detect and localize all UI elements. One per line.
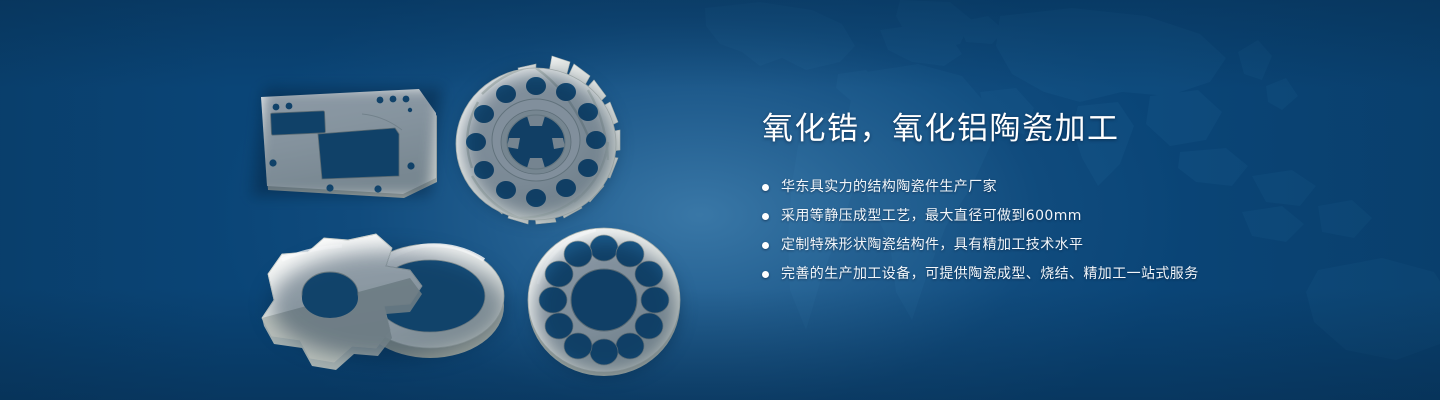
- feature-list-item: 采用等静压成型工艺，最大直径可做到600mm: [762, 205, 1382, 227]
- feature-text: 完善的生产加工设备，可提供陶瓷成型、烧结、精加工一站式服务: [781, 263, 1199, 285]
- feature-list: 华东具实力的结构陶瓷件生产厂家 采用等静压成型工艺，最大直径可做到600mm 定…: [762, 176, 1382, 285]
- feature-text: 华东具实力的结构陶瓷件生产厂家: [781, 176, 997, 198]
- feature-list-item: 定制特殊形状陶瓷结构件，具有精加工技术水平: [762, 234, 1382, 256]
- plate-shadow: [252, 88, 441, 196]
- banner-copy: 氧化锆，氧化铝陶瓷加工 华东具实力的结构陶瓷件生产厂家 采用等静压成型工艺，最大…: [762, 108, 1382, 292]
- product-image-group: [0, 0, 740, 400]
- product-cross-plate-and-ring: [252, 226, 522, 374]
- bullet-dot-icon: [762, 213, 769, 220]
- product-machined-ceramic-plate: [252, 78, 442, 203]
- product-ceramic-impeller: [448, 50, 628, 230]
- feature-text: 定制特殊形状陶瓷结构件，具有精加工技术水平: [781, 234, 1083, 256]
- bullet-dot-icon: [762, 184, 769, 191]
- feature-list-item: 完善的生产加工设备，可提供陶瓷成型、烧结、精加工一站式服务: [762, 263, 1382, 285]
- product-perforated-ceramic-disc: [522, 222, 690, 380]
- bullet-dot-icon: [762, 242, 769, 249]
- disc-shadow: [534, 242, 678, 374]
- feature-list-item: 华东具实力的结构陶瓷件生产厂家: [762, 176, 1382, 198]
- cross-ring-shadow: [270, 250, 506, 360]
- banner-headline: 氧化锆，氧化铝陶瓷加工: [762, 108, 1382, 150]
- product-hero-banner: 氧化锆，氧化铝陶瓷加工 华东具实力的结构陶瓷件生产厂家 采用等静压成型工艺，最大…: [0, 0, 1440, 400]
- impeller-shadow: [462, 72, 614, 218]
- bullet-dot-icon: [762, 271, 769, 278]
- feature-text: 采用等静压成型工艺，最大直径可做到600mm: [781, 205, 1082, 227]
